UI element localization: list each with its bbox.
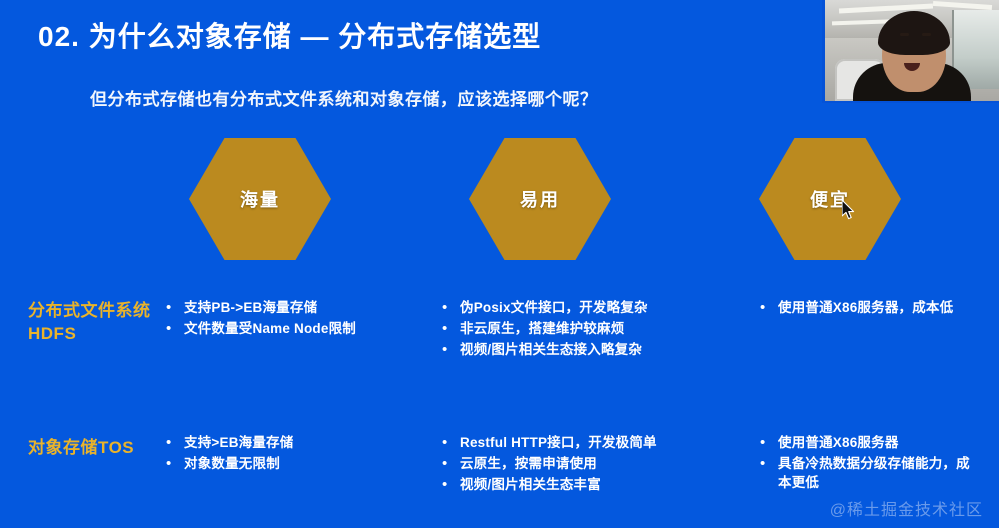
bullet-item: •云原生，按需申请使用 <box>442 454 707 473</box>
bullet-item: •对象数量无限制 <box>166 454 381 473</box>
hexagon-capability-2: 便宜 <box>759 138 901 260</box>
bullet-dot-icon: • <box>166 454 184 473</box>
bullet-dot-icon: • <box>166 298 184 317</box>
row-label-tos: 对象存储TOS <box>28 437 163 460</box>
row-label-hdfs: 分布式文件系统HDFS <box>28 300 163 346</box>
bullet-dot-icon: • <box>760 433 778 452</box>
bullet-list-r0c0: •支持PB->EB海量存储•文件数量受Name Node限制 <box>166 298 381 340</box>
bullet-text: 对象数量无限制 <box>184 454 280 473</box>
bullet-list-r1c1: •Restful HTTP接口，开发极简单•云原生，按需申请使用•视频/图片相关… <box>442 433 707 496</box>
bullet-item: •具备冷热数据分级存储能力，成本更低 <box>760 454 975 492</box>
slide-subtitle: 但分布式存储也有分布式文件系统和对象存储，应该选择哪个呢？ <box>90 85 598 110</box>
bullet-dot-icon: • <box>442 475 460 494</box>
bullet-text: 支持>EB海量存储 <box>184 433 293 452</box>
bullet-text: 使用普通X86服务器，成本低 <box>778 298 953 317</box>
bullet-item: •视频/图片相关生态接入略复杂 <box>442 340 707 359</box>
bullet-dot-icon: • <box>760 454 778 473</box>
bullet-list-r1c2: •使用普通X86服务器•具备冷热数据分级存储能力，成本更低 <box>760 433 975 494</box>
bullet-item: •支持PB->EB海量存储 <box>166 298 381 317</box>
presentation-slide: 02. 为什么对象存储 — 分布式存储选型 但分布式存储也有分布式文件系统和对象… <box>0 0 999 528</box>
webcam-video-overlay[interactable] <box>822 0 999 103</box>
bullet-text: 视频/图片相关生态丰富 <box>460 475 601 494</box>
bullet-dot-icon: • <box>442 454 460 473</box>
person-eye-left <box>900 33 909 36</box>
hexagon-label: 易用 <box>520 186 560 212</box>
hexagon-capability-1: 易用 <box>469 138 611 260</box>
page-title: 02. 为什么对象存储 — 分布式存储选型 <box>38 15 541 55</box>
bullet-text: 视频/图片相关生态接入略复杂 <box>460 340 642 359</box>
bullet-item: •视频/图片相关生态丰富 <box>442 475 707 494</box>
bullet-text: Restful HTTP接口，开发极简单 <box>460 433 657 452</box>
hexagon-label: 便宜 <box>810 186 850 212</box>
bullet-text: 具备冷热数据分级存储能力，成本更低 <box>778 454 975 492</box>
bullet-text: 非云原生，搭建维护较麻烦 <box>460 319 624 338</box>
hexagon-capability-0: 海量 <box>189 138 331 260</box>
bullet-item: •非云原生，搭建维护较麻烦 <box>442 319 707 338</box>
bullet-dot-icon: • <box>166 433 184 452</box>
bullet-text: 使用普通X86服务器 <box>778 433 899 452</box>
bullet-item: •支持>EB海量存储 <box>166 433 381 452</box>
person-eye-right <box>922 33 931 36</box>
bullet-item: •使用普通X86服务器 <box>760 433 975 452</box>
bullet-list-r0c1: •伪Posix文件接口，开发略复杂•非云原生，搭建维护较麻烦•视频/图片相关生态… <box>442 298 707 361</box>
bullet-dot-icon: • <box>760 298 778 317</box>
bullet-dot-icon: • <box>442 319 460 338</box>
bullet-list-r1c0: •支持>EB海量存储•对象数量无限制 <box>166 433 381 475</box>
bullet-text: 云原生，按需申请使用 <box>460 454 597 473</box>
bullet-dot-icon: • <box>442 340 460 359</box>
bullet-item: •文件数量受Name Node限制 <box>166 319 381 338</box>
bullet-dot-icon: • <box>166 319 184 338</box>
bullet-item: •伪Posix文件接口，开发略复杂 <box>442 298 707 317</box>
bullet-text: 支持PB->EB海量存储 <box>184 298 317 317</box>
bullet-dot-icon: • <box>442 433 460 452</box>
bullet-item: •Restful HTTP接口，开发极简单 <box>442 433 707 452</box>
bullet-text: 伪Posix文件接口，开发略复杂 <box>460 298 648 317</box>
watermark: @稀土掘金技术社区 <box>830 496 983 520</box>
bullet-item: •使用普通X86服务器，成本低 <box>760 298 975 317</box>
hexagon-label: 海量 <box>240 186 280 212</box>
bullet-text: 文件数量受Name Node限制 <box>184 319 356 338</box>
webcam-scene <box>825 0 999 101</box>
bullet-list-r0c2: •使用普通X86服务器，成本低 <box>760 298 975 319</box>
bullet-dot-icon: • <box>442 298 460 317</box>
